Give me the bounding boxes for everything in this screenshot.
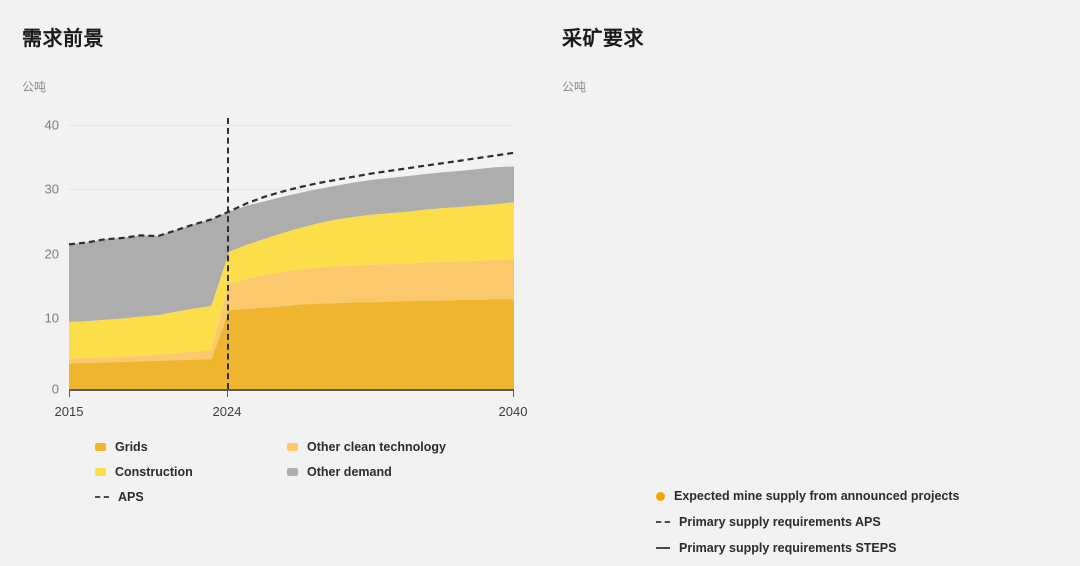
legend-label-other-clean-technology: Other clean technology [307,440,446,454]
legend-item-expected-mine-supply[interactable]: Expected mine supply from announced proj… [656,489,959,503]
legend-label-aps: APS [118,490,144,504]
legend-dashed-line-icon-primary-supply-aps [656,521,670,523]
dual-chart-page: 需求前景 公吨 40 30 20 10 0 [0,0,1080,566]
ytick-label-20: 20 [13,246,59,261]
legend-swatch-other-demand [287,468,298,476]
legend-item-primary-supply-steps[interactable]: Primary supply requirements STEPS [656,541,896,555]
area-chart-svg [69,118,514,389]
unit-label-demand: 公吨 [22,78,46,95]
page-title-mining: 采矿要求 [562,22,644,51]
ytick-label-30: 30 [13,182,59,197]
xtick-mark-2040 [513,389,514,397]
legend-item-primary-supply-aps[interactable]: Primary supply requirements APS [656,515,881,529]
legend-dot-icon-expected-mine-supply [656,492,665,501]
legend-item-construction[interactable]: Construction [95,465,193,479]
legend-item-other-demand[interactable]: Other demand [287,465,392,479]
xtick-label-2040: 2040 [499,404,528,419]
legend-swatch-other-clean-technology [287,443,298,451]
legend-label-construction: Construction [115,465,193,479]
ytick-label-0: 0 [13,382,59,397]
legend-label-expected-mine-supply: Expected mine supply from announced proj… [674,489,959,503]
panel-demand-outlook: 需求前景 公吨 40 30 20 10 0 [0,0,540,566]
plot-area-demand: 40 30 20 10 0 [69,118,514,389]
legend-swatch-construction [95,468,106,476]
ytick-label-40: 40 [13,117,59,132]
page-title-demand: 需求前景 [22,22,104,51]
legend-item-other-clean-technology[interactable]: Other clean technology [287,440,446,454]
xtick-label-2015: 2015 [55,404,84,419]
legend-item-grids[interactable]: Grids [95,440,148,454]
legend-label-other-demand: Other demand [307,465,392,479]
panel-mining-requirement: 采矿要求 公吨 30k 25k 20k 15k 10k 5k 0 [540,0,1080,566]
ytick-label-10: 10 [13,311,59,326]
xtick-label-2024: 2024 [213,404,242,419]
xtick-mark-2024 [227,389,228,397]
xtick-mark-2015 [69,389,70,397]
legend-label-grids: Grids [115,440,148,454]
legend-dashed-line-icon-aps [95,496,109,498]
vline-2024-marker [227,118,229,389]
legend-solid-line-icon-primary-supply-steps [656,547,670,549]
legend-label-primary-supply-aps: Primary supply requirements APS [679,515,881,529]
x-axis-baseline-demand [69,389,514,391]
legend-swatch-grids [95,443,106,451]
unit-label-mining: 公吨 [562,78,586,95]
area-grids-base [69,359,211,389]
legend-item-aps[interactable]: APS [95,490,144,504]
legend-label-primary-supply-steps: Primary supply requirements STEPS [679,541,896,555]
